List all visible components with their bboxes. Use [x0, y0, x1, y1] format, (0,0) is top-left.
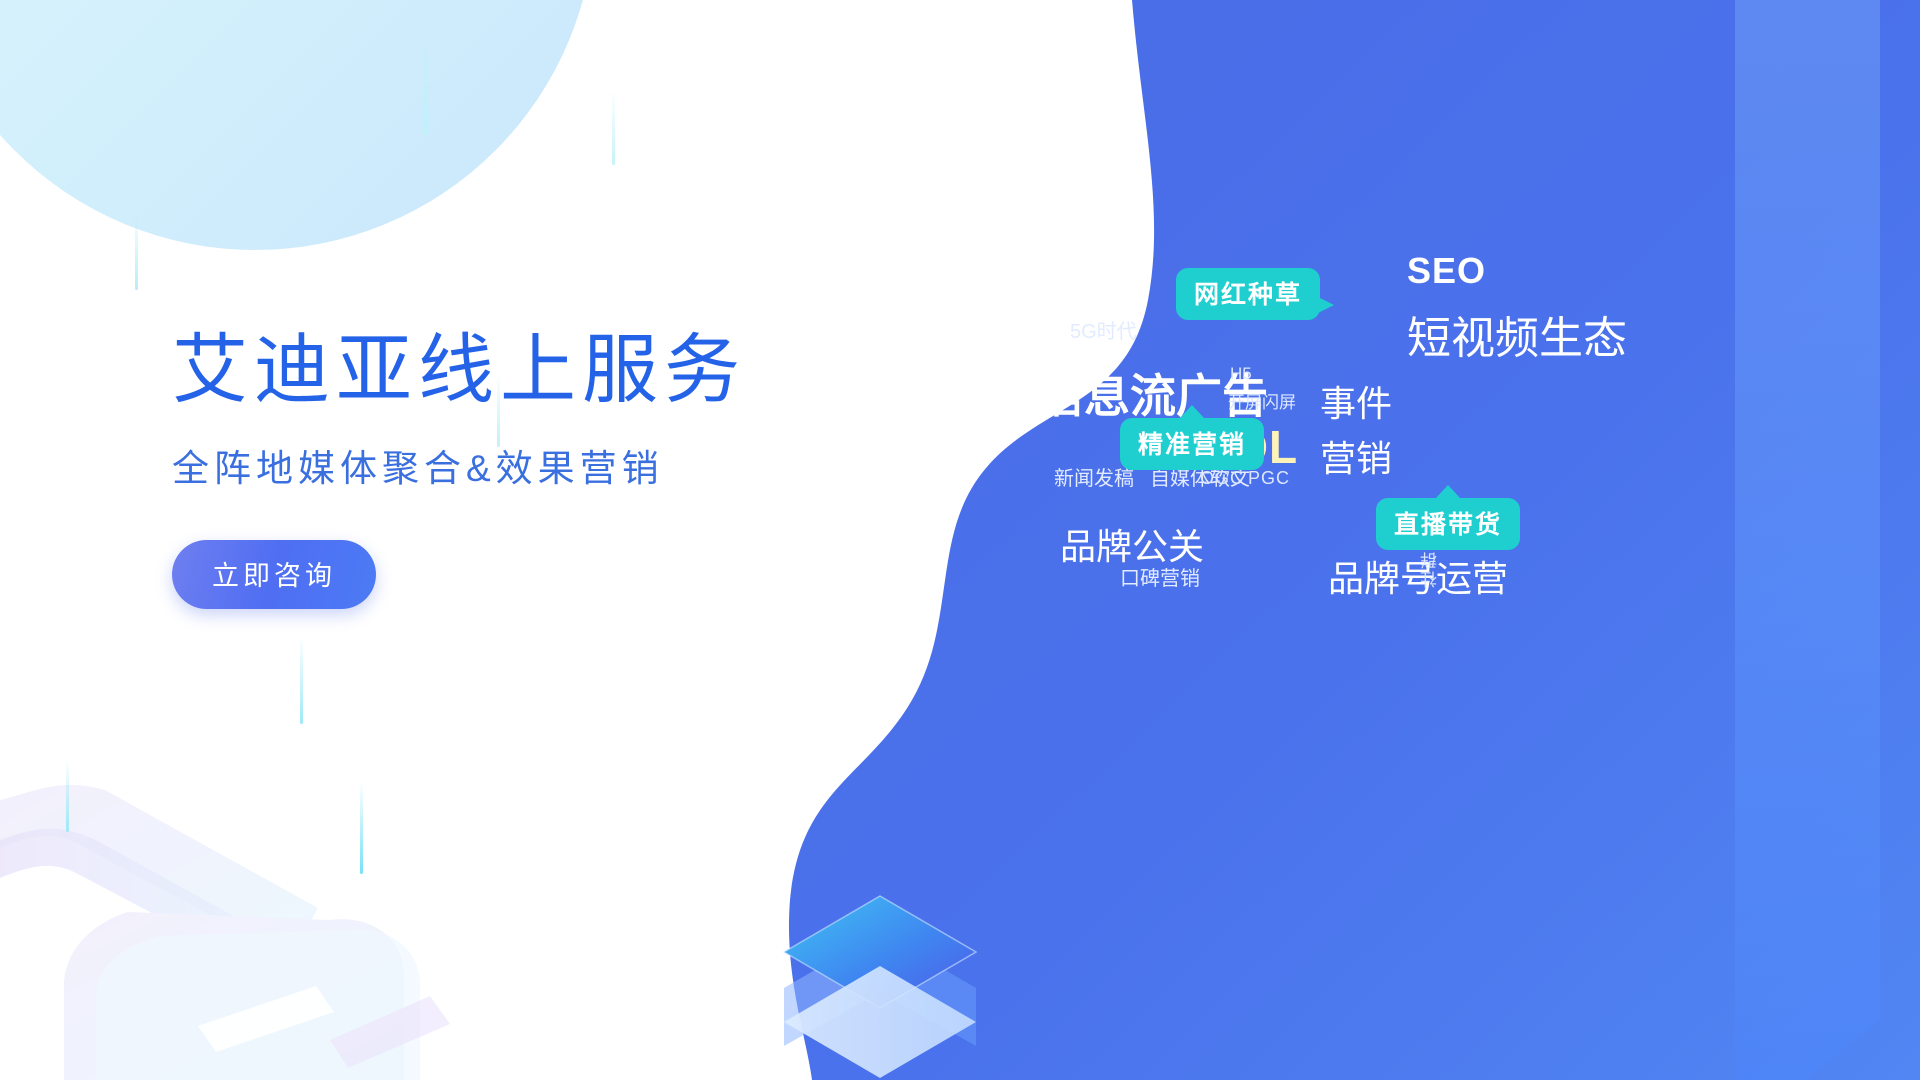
keyword-bubble[interactable]: 精准营销 — [1120, 418, 1264, 470]
keyword-tag: 口碑营销 — [1120, 562, 1200, 591]
keyword-tag: 开屏闪屏 — [1228, 388, 1296, 413]
rain-line — [360, 782, 363, 874]
bubble-tail-icon — [1179, 405, 1205, 419]
rain-line — [135, 210, 138, 290]
keyword-tag: SEO — [1407, 250, 1486, 292]
page-subtitle: 全阵地媒体聚合&效果营销 — [172, 438, 952, 492]
keyword-tag: 5G时代 — [1070, 315, 1137, 344]
bubble-tail-icon — [1316, 296, 1334, 314]
consult-now-button[interactable]: 立即咨询 — [172, 540, 376, 609]
hero-copy-block: 艾迪亚线上服务 全阵地媒体聚合&效果营销 立即咨询 — [172, 330, 952, 609]
banner-stage: 艾迪亚线上服务 全阵地媒体聚合&效果营销 立即咨询 SEO短视频生态5G时代信息… — [0, 0, 1920, 1080]
keyword-tag: 事件 — [1320, 375, 1392, 427]
keyword-cloud: SEO短视频生态5G时代信息流广告H5开屏闪屏事件KOL营销新闻发稿自媒体软文O… — [1130, 230, 1890, 690]
keyword-tag: PGC — [1248, 468, 1290, 489]
keyword-bubble[interactable]: 网红种草 — [1176, 268, 1320, 320]
rain-line — [612, 90, 615, 165]
keyword-tag: 营销 — [1320, 430, 1392, 482]
keyword-tag: 短视频生态 — [1407, 302, 1627, 366]
rain-line — [66, 760, 69, 832]
page-title: 艾迪亚线上服务 — [172, 330, 952, 412]
keyword-tag: H5 — [1230, 364, 1252, 384]
keyword-tag: OGC — [1200, 468, 1244, 489]
rain-line — [300, 636, 303, 724]
keyword-tag: 新闻发稿 — [1054, 462, 1134, 491]
keyword-bubble[interactable]: 直播带货 — [1376, 498, 1520, 550]
bubble-tail-icon — [1435, 485, 1461, 499]
rain-line — [424, 30, 427, 135]
